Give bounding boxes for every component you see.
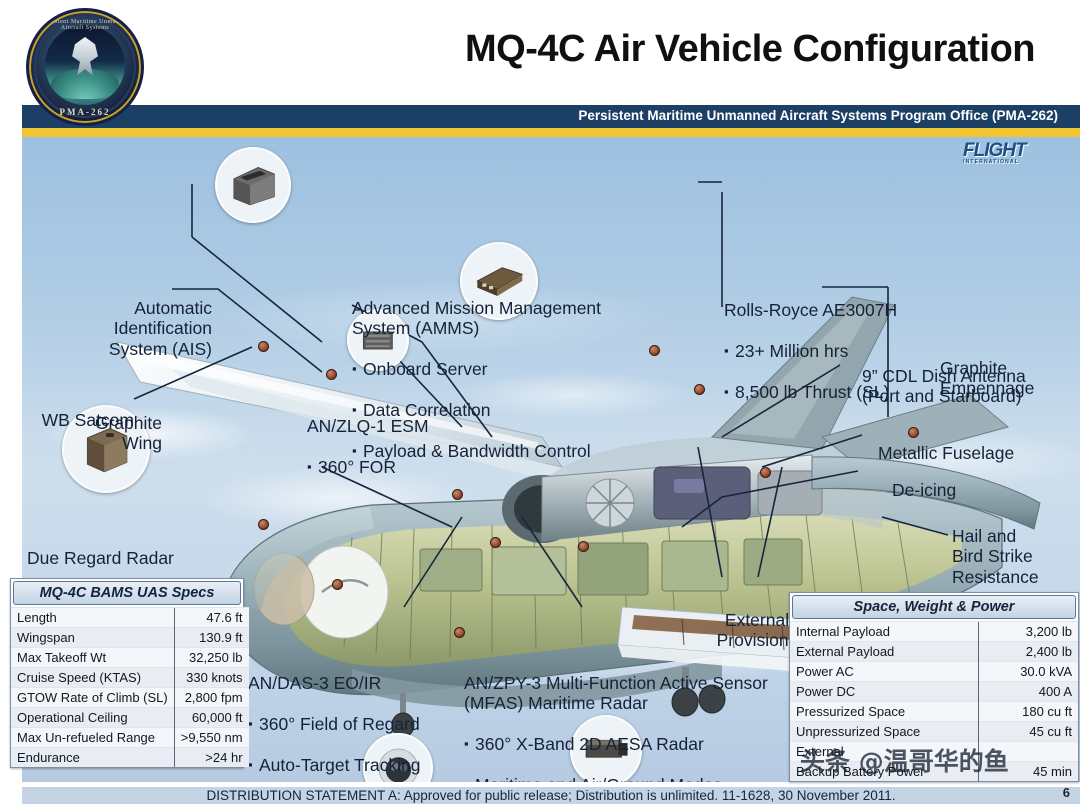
marker-dot (760, 467, 771, 478)
table-row: Max Takeoff Wt32,250 lb (11, 648, 249, 668)
program-office-bar: Persistent Maritime Unmanned Aircraft Sy… (22, 105, 1080, 128)
callout-amms-title: Advanced Mission Management System (AMMS… (352, 298, 652, 339)
callout-wb-satcom-title: WB Satcom (22, 410, 134, 431)
callout-cdl-antenna: 9” CDL Dish Antenna (Port and Starboard) (862, 345, 1080, 427)
specs-table-body: Length47.6 ft Wingspan130.9 ft Max Takeo… (11, 607, 249, 767)
callout-amms-bullet-1: Onboard Server (352, 359, 652, 380)
callout-hail-bird-strike-title: Hail and Bird Strike Resistance (952, 526, 1080, 588)
callout-engine-title: Rolls-Royce AE3007H (724, 300, 974, 321)
callout-mfas-bullet-1: 360° X-Band 2D AESA Radar (464, 734, 794, 755)
table-row: Pressurized Space180 cu ft (790, 702, 1078, 722)
swap-label: External Payload (790, 642, 979, 662)
table-row: Endurance>24 hr (11, 748, 249, 768)
swap-label: Unpressurized Space (790, 722, 979, 742)
spec-label: Wingspan (11, 628, 174, 648)
spec-label: Endurance (11, 748, 174, 768)
program-office-label: Persistent Maritime Unmanned Aircraft Sy… (578, 108, 1058, 123)
callout-esm-title: AN/ZLQ-1 ESM (307, 416, 487, 437)
swap-table-caption: Space, Weight & Power (792, 595, 1076, 619)
spec-label: Operational Ceiling (11, 708, 174, 728)
flight-logo-subtext: INTERNATIONAL (963, 159, 1059, 165)
seal-top-text: Persistent Maritime Unmanned Aircraft Sy… (29, 19, 141, 31)
seal-mountain (51, 69, 119, 99)
swap-value: 45 cu ft (979, 722, 1079, 742)
marker-dot (332, 579, 343, 590)
callout-esm-bullet-1: 360° FOR (307, 457, 487, 478)
table-row: GTOW Rate of Climb (SL)2,800 fpm (11, 688, 249, 708)
callout-ais: Automatic Identification System (AIS) (82, 277, 212, 380)
callout-eoir-bullet-1: 360° Field of Regard (248, 714, 478, 735)
marker-dot (258, 341, 269, 352)
table-row: Wingspan130.9 ft (11, 628, 249, 648)
table-row: Unpressurized Space45 cu ft (790, 722, 1078, 742)
swap-label: Pressurized Space (790, 702, 979, 722)
callout-wb-satcom: WB Satcom (22, 389, 134, 451)
page-number: 6 (1063, 785, 1070, 800)
seal-inner-scene (45, 25, 125, 105)
table-row: Power DC400 A (790, 682, 1078, 702)
callout-mfas-bullet-2: Maritime and Air/Ground Modes (464, 775, 794, 782)
spec-label: Length (11, 608, 174, 628)
spec-value: 32,250 lb (174, 648, 248, 668)
swap-value: 30.0 kVA (979, 662, 1079, 682)
callout-eoir-title: AN/DAS-3 EO/IR (248, 673, 478, 694)
table-row: Max Un-refueled Range>9,550 nm (11, 728, 249, 748)
slide-root: Persistent Maritime Unmanned Aircraft Sy… (0, 0, 1080, 804)
swap-value: 400 A (979, 682, 1079, 702)
marker-dot (454, 627, 465, 638)
callout-due-regard-radar-title: Due Regard Radar (27, 548, 247, 569)
specs-table-caption: MQ-4C BAMS UAS Specs (13, 581, 241, 605)
swap-value: 3,200 lb (979, 622, 1079, 642)
marker-dot (326, 369, 337, 380)
spec-label: Max Un-refueled Range (11, 728, 174, 748)
spec-label: GTOW Rate of Climb (SL) (11, 688, 174, 708)
swap-label: Internal Payload (790, 622, 979, 642)
spec-value: 2,800 fpm (174, 688, 248, 708)
marker-dot (490, 537, 501, 548)
spec-value: 60,000 ft (174, 708, 248, 728)
callout-esm: AN/ZLQ-1 ESM 360° FOR (307, 395, 487, 498)
watermark-text: 头条 @温哥华的鱼 (800, 742, 1070, 782)
page-title: MQ-4C Air Vehicle Configuration (440, 28, 1060, 71)
spec-value: 130.9 ft (174, 628, 248, 648)
gold-accent-bar (22, 128, 1080, 137)
table-row: External Payload2,400 lb (790, 642, 1078, 662)
swap-value: 2,400 lb (979, 642, 1079, 662)
table-row: Length47.6 ft (11, 608, 249, 628)
callout-ais-title: Automatic Identification System (AIS) (82, 298, 212, 360)
spec-value: >24 hr (174, 748, 248, 768)
marker-dot (578, 541, 589, 552)
table-row: Internal Payload3,200 lb (790, 622, 1078, 642)
specs-table: MQ-4C BAMS UAS Specs Length47.6 ft Wings… (10, 578, 244, 768)
spec-label: Cruise Speed (KTAS) (11, 668, 174, 688)
swap-label: Power DC (790, 682, 979, 702)
swap-label: Power AC (790, 662, 979, 682)
distribution-statement: DISTRIBUTION STATEMENT A: Approved for p… (22, 787, 1080, 804)
flight-international-logo: FLIGHT INTERNATIONAL (963, 140, 1059, 166)
pma-262-seal: Persistent Maritime Unmanned Aircraft Sy… (26, 8, 144, 126)
callout-eoir-bullet-2: Auto-Target Tracking (248, 755, 478, 776)
marker-dot (258, 519, 269, 530)
callout-deicing-title: De-icing (892, 480, 1032, 501)
ais-unit-photo (215, 147, 291, 223)
spec-value: 330 knots (174, 668, 248, 688)
spec-value: >9,550 nm (174, 728, 248, 748)
flight-logo-text: FLIGHT (963, 140, 1026, 161)
table-row: Power AC30.0 kVA (790, 662, 1078, 682)
callout-eoir: AN/DAS-3 EO/IR 360° Field of Regard Auto… (248, 652, 478, 782)
callout-cdl-antenna-title: 9” CDL Dish Antenna (Port and Starboard) (862, 366, 1080, 407)
spec-label: Max Takeoff Wt (11, 648, 174, 668)
spec-value: 47.6 ft (174, 608, 248, 628)
table-row: Cruise Speed (KTAS)330 knots (11, 668, 249, 688)
marker-dot (694, 384, 705, 395)
table-row: Operational Ceiling60,000 ft (11, 708, 249, 728)
swap-value: 180 cu ft (979, 702, 1079, 722)
callout-mfas-title: AN/ZPY-3 Multi-Function Active Sensor (M… (464, 673, 794, 714)
callout-mfas: AN/ZPY-3 Multi-Function Active Sensor (M… (464, 652, 794, 782)
seal-bottom-text: PMA-262 (29, 107, 141, 117)
